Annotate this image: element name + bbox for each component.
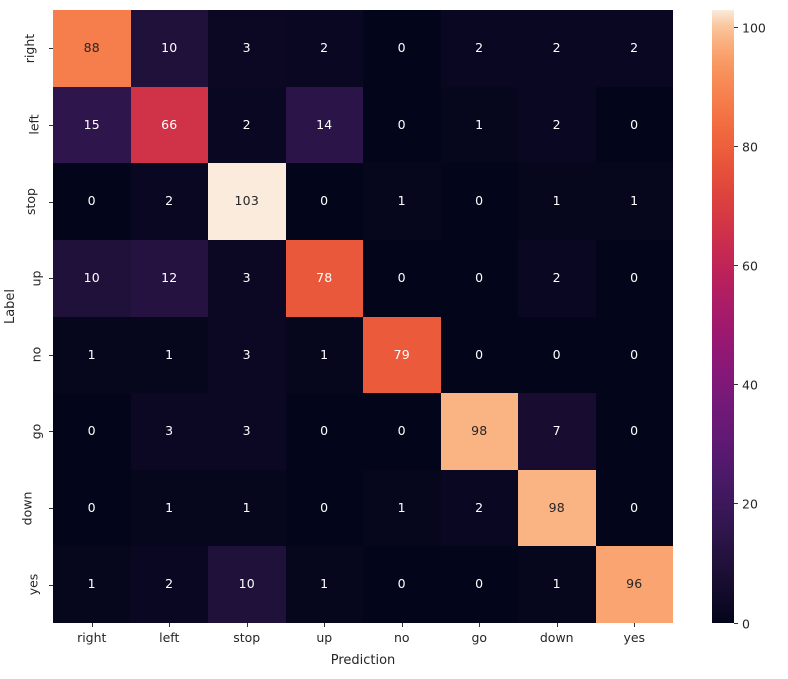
y-axis-tick-labels: rightleftstopupnogodownyes xyxy=(14,10,46,623)
heatmap-cell-value: 0 xyxy=(320,502,328,515)
x-axis-title-text: Prediction xyxy=(331,653,396,668)
heatmap-cell: 0 xyxy=(53,470,131,547)
heatmap-cell: 7 xyxy=(518,393,596,470)
colorbar-tick-mark xyxy=(734,146,738,147)
heatmap-cell-value: 66 xyxy=(161,119,177,132)
heatmap-cell-value: 0 xyxy=(398,425,406,438)
y-tick-down: down xyxy=(14,470,46,547)
heatmap-cell-value: 0 xyxy=(553,349,561,362)
heatmap-cell-value: 3 xyxy=(243,349,251,362)
colorbar-tick-mark xyxy=(734,27,738,28)
heatmap-cell: 0 xyxy=(363,240,441,317)
heatmap-cell: 1 xyxy=(363,470,441,547)
heatmap-cell-value: 14 xyxy=(316,119,332,132)
heatmap-cell-value: 1 xyxy=(243,502,251,515)
heatmap-cell: 15 xyxy=(53,87,131,164)
heatmap-cell: 98 xyxy=(441,393,519,470)
heatmap-cell: 10 xyxy=(208,546,286,623)
heatmap-cell-value: 103 xyxy=(235,195,259,208)
heatmap-cell-value: 0 xyxy=(630,119,638,132)
heatmap-cell: 2 xyxy=(441,10,519,87)
heatmap-cell-value: 12 xyxy=(161,272,177,285)
heatmap-cell: 1 xyxy=(441,87,519,164)
heatmap-cell-value: 2 xyxy=(553,119,561,132)
heatmap-cell-value: 0 xyxy=(398,272,406,285)
y-tick-label: right xyxy=(22,34,37,63)
y-tick-label: stop xyxy=(23,188,38,215)
x-tick-up: up xyxy=(286,630,364,650)
heatmap-cell-value: 1 xyxy=(165,349,173,362)
heatmap-cell: 1 xyxy=(53,317,131,394)
heatmap-cell: 88 xyxy=(53,10,131,87)
heatmap-cell-value: 2 xyxy=(243,119,251,132)
colorbar-tick-label: 100 xyxy=(742,21,766,36)
heatmap-cell-value: 2 xyxy=(553,42,561,55)
heatmap-cell-value: 0 xyxy=(630,502,638,515)
heatmap-cell-value: 0 xyxy=(398,119,406,132)
heatmap-cell-value: 3 xyxy=(243,272,251,285)
heatmap-cell: 2 xyxy=(518,87,596,164)
x-tick-mark xyxy=(208,623,286,629)
heatmap-cell: 0 xyxy=(596,240,674,317)
heatmap-cell: 0 xyxy=(441,240,519,317)
heatmap-cell: 0 xyxy=(53,163,131,240)
heatmap-cell-value: 1 xyxy=(88,349,96,362)
colorbar-tick-labels: 020406080100 xyxy=(712,10,782,623)
heatmap-cell: 79 xyxy=(363,317,441,394)
y-tick-label: go xyxy=(29,424,44,440)
heatmap-cell-value: 0 xyxy=(475,272,483,285)
heatmap-cell-value: 10 xyxy=(239,578,255,591)
heatmap-cell-value: 10 xyxy=(161,42,177,55)
y-tick-go: go xyxy=(14,393,46,470)
heatmap-cell: 0 xyxy=(363,546,441,623)
heatmap-cell: 1 xyxy=(131,317,209,394)
heatmap-cell: 1 xyxy=(518,546,596,623)
heatmap-cell: 0 xyxy=(286,163,364,240)
heatmap-cell: 2 xyxy=(286,10,364,87)
heatmap-cell-value: 1 xyxy=(475,119,483,132)
y-tick-yes: yes xyxy=(14,546,46,623)
heatmap-cell-value: 1 xyxy=(88,578,96,591)
heatmap-cell-value: 1 xyxy=(553,195,561,208)
heatmap-cell: 2 xyxy=(518,240,596,317)
heatmap-cell-value: 98 xyxy=(471,425,487,438)
heatmap-cell: 0 xyxy=(596,470,674,547)
heatmap-cell: 0 xyxy=(53,393,131,470)
heatmap-cell-value: 0 xyxy=(398,578,406,591)
heatmap-cell: 2 xyxy=(131,546,209,623)
x-axis-tick-marks xyxy=(53,623,673,629)
heatmap-cell: 1 xyxy=(286,317,364,394)
heatmap-cell: 0 xyxy=(286,470,364,547)
x-tick-mark xyxy=(518,623,596,629)
heatmap-cell: 0 xyxy=(596,393,674,470)
y-tick-label: up xyxy=(29,270,44,286)
colorbar-tick-mark xyxy=(734,503,738,504)
heatmap-cell-value: 0 xyxy=(320,195,328,208)
heatmap-cell-value: 1 xyxy=(630,195,638,208)
x-tick-stop: stop xyxy=(208,630,286,650)
y-tick-label: left xyxy=(26,115,41,135)
heatmap-cell-value: 1 xyxy=(398,195,406,208)
heatmap-cell-value: 0 xyxy=(475,578,483,591)
heatmap-cell: 12 xyxy=(131,240,209,317)
heatmap-cell: 78 xyxy=(286,240,364,317)
heatmap-cell: 1 xyxy=(518,163,596,240)
heatmap-cell-value: 2 xyxy=(553,272,561,285)
heatmap-cell-value: 78 xyxy=(316,272,332,285)
colorbar-tick-mark xyxy=(734,384,738,385)
x-tick-mark xyxy=(286,623,364,629)
heatmap-cell-value: 79 xyxy=(394,349,410,362)
colorbar-tick-label: 40 xyxy=(742,378,758,393)
heatmap-cell: 2 xyxy=(208,87,286,164)
colorbar-tick-mark xyxy=(734,623,738,624)
heatmap-cell-value: 2 xyxy=(475,42,483,55)
heatmap-cell: 3 xyxy=(208,240,286,317)
heatmap-cell-value: 3 xyxy=(165,425,173,438)
heatmap-cell: 0 xyxy=(518,317,596,394)
heatmap-cell-value: 3 xyxy=(243,42,251,55)
heatmap-cell-value: 7 xyxy=(553,425,561,438)
heatmap-cell-value: 2 xyxy=(165,578,173,591)
heatmap-cell-value: 1 xyxy=(320,349,328,362)
y-tick-no: no xyxy=(14,317,46,394)
x-tick-no: no xyxy=(363,630,441,650)
x-axis-title: Prediction xyxy=(53,653,673,671)
heatmap-cell: 10 xyxy=(131,10,209,87)
heatmap-cell-value: 2 xyxy=(165,195,173,208)
heatmap-cell-value: 1 xyxy=(165,502,173,515)
heatmap-cell-value: 0 xyxy=(475,349,483,362)
heatmap-cell: 0 xyxy=(441,546,519,623)
heatmap-cell: 3 xyxy=(131,393,209,470)
heatmap-cell: 96 xyxy=(596,546,674,623)
heatmap-cell: 98 xyxy=(518,470,596,547)
heatmap-cell: 0 xyxy=(286,393,364,470)
heatmap-cell: 0 xyxy=(363,87,441,164)
heatmap-cell-value: 98 xyxy=(549,502,565,515)
heatmap-cell: 10 xyxy=(53,240,131,317)
heatmap-cell: 2 xyxy=(441,470,519,547)
y-tick-label: down xyxy=(20,491,35,525)
colorbar-tick-label: 60 xyxy=(742,259,758,274)
heatmap-cell-value: 0 xyxy=(630,272,638,285)
y-tick-label: yes xyxy=(26,574,41,596)
heatmap-cell: 1 xyxy=(208,470,286,547)
x-tick-yes: yes xyxy=(596,630,674,650)
heatmap-cell-value: 2 xyxy=(630,42,638,55)
heatmap-cell-value: 96 xyxy=(626,578,642,591)
heatmap-cell: 2 xyxy=(518,10,596,87)
x-tick-mark xyxy=(53,623,131,629)
y-tick-left: left xyxy=(14,87,46,164)
heatmap-cell: 2 xyxy=(596,10,674,87)
heatmap-cell-value: 2 xyxy=(320,42,328,55)
heatmap-cell: 0 xyxy=(363,393,441,470)
x-tick-mark xyxy=(363,623,441,629)
heatmap-cell: 3 xyxy=(208,393,286,470)
x-tick-left: left xyxy=(131,630,209,650)
heatmap-cell-value: 0 xyxy=(320,425,328,438)
heatmap-cell-value: 0 xyxy=(475,195,483,208)
heatmap-cell-value: 0 xyxy=(630,425,638,438)
heatmap-cell-value: 1 xyxy=(553,578,561,591)
y-tick-up: up xyxy=(14,240,46,317)
heatmap-grid: 8810320222156621401200210301011101237800… xyxy=(53,10,673,623)
heatmap-cell-value: 15 xyxy=(84,119,100,132)
heatmap-cell-value: 3 xyxy=(243,425,251,438)
heatmap-cell-value: 0 xyxy=(88,502,96,515)
heatmap-cell: 1 xyxy=(53,546,131,623)
heatmap-cell: 0 xyxy=(441,163,519,240)
colorbar-tick-label: 80 xyxy=(742,140,758,155)
colorbar-tick-label: 0 xyxy=(742,616,750,631)
heatmap-cell: 1 xyxy=(363,163,441,240)
heatmap-cell-value: 88 xyxy=(84,42,100,55)
heatmap-cell: 1 xyxy=(131,470,209,547)
x-tick-right: right xyxy=(53,630,131,650)
x-tick-go: go xyxy=(441,630,519,650)
heatmap-cell-value: 0 xyxy=(88,425,96,438)
colorbar-tick-mark xyxy=(734,265,738,266)
heatmap-cell: 2 xyxy=(131,163,209,240)
heatmap-cell: 1 xyxy=(596,163,674,240)
colorbar-tick-label: 20 xyxy=(742,497,758,512)
heatmap-cell: 3 xyxy=(208,10,286,87)
heatmap-cell-value: 2 xyxy=(475,502,483,515)
heatmap-cell-value: 0 xyxy=(88,195,96,208)
x-axis-tick-labels: rightleftstopupnogodownyes xyxy=(53,630,673,650)
x-tick-down: down xyxy=(518,630,596,650)
y-tick-stop: stop xyxy=(14,163,46,240)
heatmap-cell: 3 xyxy=(208,317,286,394)
heatmap-cell-value: 10 xyxy=(84,272,100,285)
heatmap-cell: 0 xyxy=(596,317,674,394)
y-tick-label: no xyxy=(29,347,44,363)
heatmap-cell: 0 xyxy=(596,87,674,164)
heatmap-cell: 0 xyxy=(363,10,441,87)
x-tick-mark xyxy=(441,623,519,629)
x-tick-mark xyxy=(596,623,674,629)
heatmap-cell: 103 xyxy=(208,163,286,240)
heatmap-cell-value: 1 xyxy=(398,502,406,515)
heatmap-cell-value: 1 xyxy=(320,578,328,591)
x-tick-mark xyxy=(131,623,209,629)
heatmap-cell: 66 xyxy=(131,87,209,164)
heatmap-cell: 14 xyxy=(286,87,364,164)
y-tick-right: right xyxy=(14,10,46,87)
confusion-matrix-figure: Label rightleftstopupnogodownyes 8810320… xyxy=(0,0,788,679)
heatmap-cell-value: 0 xyxy=(630,349,638,362)
heatmap-cell: 1 xyxy=(286,546,364,623)
heatmap-cell-value: 0 xyxy=(398,42,406,55)
heatmap-cell: 0 xyxy=(441,317,519,394)
